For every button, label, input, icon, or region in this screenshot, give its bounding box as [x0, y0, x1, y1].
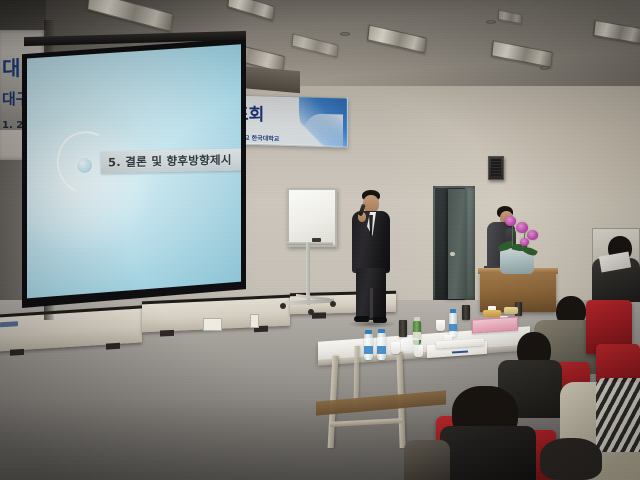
wall-speaker	[488, 156, 504, 180]
water-bottle[interactable]	[449, 313, 457, 337]
water-bottle[interactable]	[364, 334, 373, 360]
heater-foot	[312, 312, 326, 318]
heater-foot	[160, 330, 174, 337]
slide-dot-graphic	[77, 158, 92, 173]
door-leaf[interactable]	[448, 189, 467, 299]
bottle-label	[364, 346, 373, 354]
slide-heading-text: 5. 결론 및 향후방향제시	[101, 152, 232, 171]
heater-foot	[10, 349, 24, 356]
audience-torso	[440, 426, 536, 480]
striped-scarf	[596, 378, 640, 452]
door-handle-icon[interactable]	[450, 252, 455, 256]
bottle-cap	[414, 317, 420, 321]
water-bottle[interactable]	[377, 333, 386, 360]
presenter-leg-gap	[370, 288, 373, 318]
whiteboard-marker[interactable]	[312, 238, 321, 242]
orchid-bloom	[520, 238, 529, 246]
projection-screen[interactable]: 5. 결론 및 향후방향제시	[27, 43, 241, 301]
bottle-cap	[450, 309, 456, 313]
slide-heading-band: 5. 결론 및 향후방향제시	[101, 149, 241, 174]
audience-torso	[404, 440, 450, 480]
wall-outlet[interactable]	[203, 318, 222, 331]
snack-item[interactable]	[483, 310, 501, 317]
ceiling-vent	[340, 32, 350, 36]
heater-foot	[106, 343, 120, 350]
plastic-wrapper[interactable]	[401, 338, 419, 351]
orchid-bloom	[527, 230, 538, 240]
orchid-bloom	[505, 216, 516, 226]
orchid-bloom	[516, 222, 528, 233]
beverage-can[interactable]	[462, 305, 470, 320]
paper-cup[interactable]	[391, 342, 400, 354]
presenter-shadow	[348, 320, 396, 328]
photo-scene: 대 대구 · 1. 20(금) 1 표회 회 대학교 한국대학교 5. 결론 및…	[0, 0, 640, 480]
ceiling-vent	[540, 66, 549, 70]
wall-switch[interactable]	[250, 314, 259, 328]
whiteboard-caster	[280, 303, 286, 309]
whiteboard-caster	[330, 301, 336, 307]
bottle-label	[449, 324, 457, 331]
snack-item[interactable]	[504, 307, 518, 314]
heater-brand-logo	[0, 321, 18, 327]
ceiling-vent	[486, 20, 496, 24]
bottle-cap	[365, 330, 372, 334]
paper-cup[interactable]	[436, 320, 445, 331]
whiteboard-marker-tray	[287, 242, 333, 245]
bottle-cap	[378, 329, 385, 333]
whiteboard-caster	[308, 309, 314, 315]
beverage-can[interactable]	[399, 320, 407, 337]
bottle-label	[377, 346, 386, 354]
audience-head	[540, 438, 602, 480]
speaker-grille-icon	[491, 159, 501, 177]
